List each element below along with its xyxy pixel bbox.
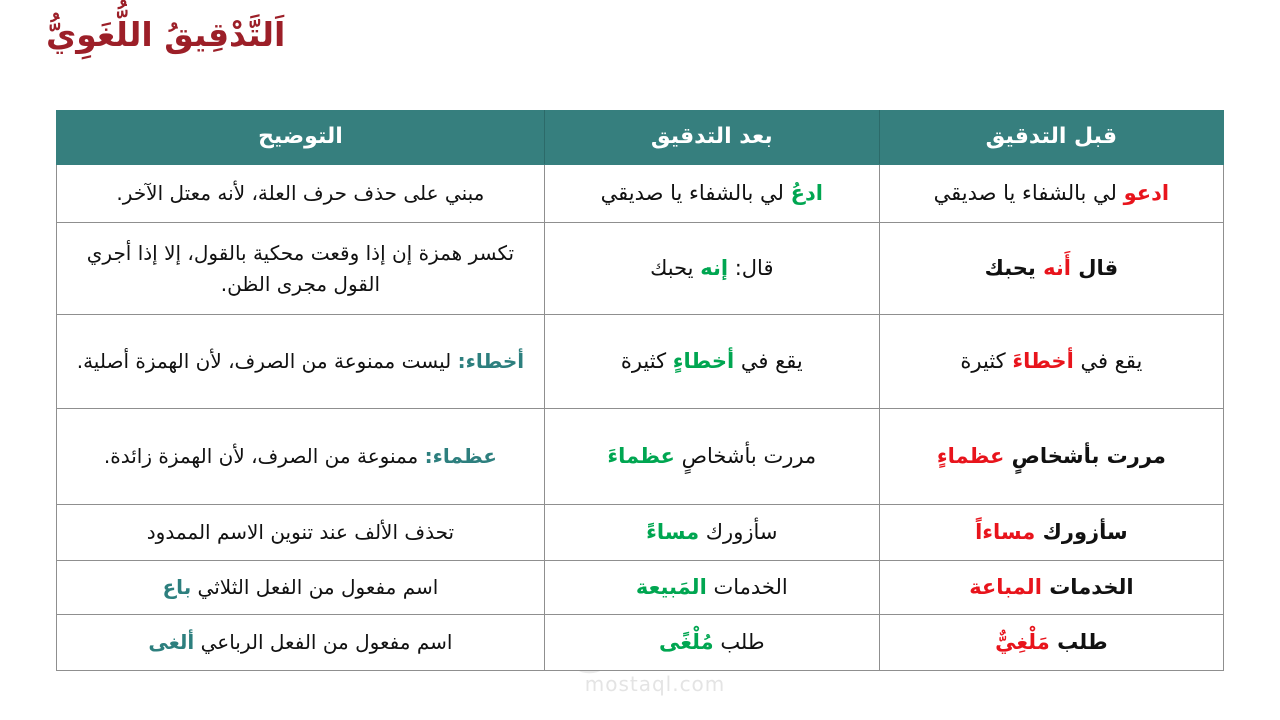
explanation-text: اسم مفعول من الفعل الرباعي (194, 630, 452, 654)
cell-explanation: عظماء: ممنوعة من الصرف، لأن الهمزة زائدة… (57, 409, 545, 505)
page-title-bar: اَلتَّدْقِيقُ اللُّغَوِيُّ (46, 14, 1234, 57)
cell-after: قال: إنه يحبك (544, 223, 879, 315)
after-rest: كثيرة (621, 349, 673, 373)
comparison-table: قبل التدقيق بعد التدقيق التوضيح ادعو لي … (56, 110, 1224, 671)
correct-token: مُلْغًى (659, 630, 714, 654)
after-rest: يحبك (650, 256, 700, 280)
column-header-explanation: التوضيح (57, 111, 545, 165)
cell-explanation: اسم مفعول من الفعل الرباعي ألغى (57, 615, 545, 671)
cell-after: الخدمات المَبيعة (544, 561, 879, 615)
explanation-term: عظماء: (425, 444, 497, 468)
cell-before: يقع في أخطاءَ كثيرة (879, 315, 1223, 409)
wrong-token: أَنه (1043, 256, 1071, 280)
explanation-term: باع (163, 575, 192, 599)
wrong-token: مساءاً (975, 520, 1035, 544)
explanation-term: ألغى (148, 630, 194, 654)
after-rest: لي بالشفاء يا صديقي (601, 181, 791, 205)
explanation-term: أخطاء: (458, 349, 524, 373)
after-pre: الخدمات (707, 575, 788, 599)
table-row: يقع في أخطاءَ كثيرة يقع في أخطاءٍ كثيرة … (57, 315, 1224, 409)
column-header-before: قبل التدقيق (879, 111, 1223, 165)
before-pre: قال (1071, 256, 1118, 280)
table-row: طلب مَلْغِيٌّ طلب مُلْغًى اسم مفعول من ا… (57, 615, 1224, 671)
wrong-token: أخطاءَ (1012, 349, 1073, 373)
wrong-token: عظماءٍ (937, 444, 1005, 468)
explanation-text: اسم مفعول من الفعل الثلاثي (191, 575, 438, 599)
column-header-after: بعد التدقيق (544, 111, 879, 165)
before-pre: طلب (1050, 630, 1108, 654)
cell-explanation: اسم مفعول من الفعل الثلاثي باع (57, 561, 545, 615)
correct-token: مساءً (646, 520, 699, 544)
wrong-token: المباعة (969, 575, 1042, 599)
before-pre: مررت بأشخاصٍ (1004, 444, 1166, 468)
after-pre: قال: (728, 256, 773, 280)
slide-page: اَلتَّدْقِيقُ اللُّغَوِيُّ مستقل mostaql… (0, 0, 1280, 720)
page-title: اَلتَّدْقِيقُ اللُّغَوِيُّ (46, 14, 285, 57)
before-rest: لي بالشفاء يا صديقي (934, 181, 1124, 205)
cell-before: سأزورك مساءاً (879, 505, 1223, 561)
cell-before: طلب مَلْغِيٌّ (879, 615, 1223, 671)
cell-explanation: مبني على حذف حرف العلة، لأنه معتل الآخر. (57, 165, 545, 223)
cell-after: مررت بأشخاصٍ عظماءَ (544, 409, 879, 505)
explanation-text: تحذف الألف عند تنوين الاسم الممدود (147, 520, 454, 544)
after-pre: يقع في (734, 349, 803, 373)
after-pre: سأزورك (699, 520, 777, 544)
table-row: الخدمات المباعة الخدمات المَبيعة اسم مفع… (57, 561, 1224, 615)
correct-token: إنه (700, 256, 728, 280)
correct-token: المَبيعة (636, 575, 707, 599)
before-rest: يحبك (985, 256, 1043, 280)
wrong-token: مَلْغِيٌّ (995, 630, 1050, 654)
before-pre: سأزورك (1035, 520, 1127, 544)
cell-before: الخدمات المباعة (879, 561, 1223, 615)
comparison-table-wrapper: قبل التدقيق بعد التدقيق التوضيح ادعو لي … (56, 110, 1224, 671)
after-pre: طلب (714, 630, 765, 654)
cell-before: ادعو لي بالشفاء يا صديقي (879, 165, 1223, 223)
table-header: قبل التدقيق بعد التدقيق التوضيح (57, 111, 1224, 165)
cell-explanation: أخطاء: ليست ممنوعة من الصرف، لأن الهمزة … (57, 315, 545, 409)
explanation-text: ليست ممنوعة من الصرف، لأن الهمزة أصلية. (77, 349, 458, 373)
explanation-text: تكسر همزة إن إذا وقعت محكية بالقول، إلا … (87, 241, 514, 296)
table-row: سأزورك مساءاً سأزورك مساءً تحذف الألف عن… (57, 505, 1224, 561)
before-pre: الخدمات (1042, 575, 1134, 599)
correct-token: عظماءَ (607, 444, 675, 468)
cell-explanation: تكسر همزة إن إذا وقعت محكية بالقول، إلا … (57, 223, 545, 315)
correct-token: ادعُ (791, 181, 823, 205)
cell-after: يقع في أخطاءٍ كثيرة (544, 315, 879, 409)
after-pre: مررت بأشخاصٍ (675, 444, 816, 468)
watermark-latin: mostaql.com (540, 673, 770, 695)
table-row: قال أَنه يحبك قال: إنه يحبك تكسر همزة إن… (57, 223, 1224, 315)
cell-before: قال أَنه يحبك (879, 223, 1223, 315)
table-body: ادعو لي بالشفاء يا صديقي ادعُ لي بالشفاء… (57, 165, 1224, 671)
wrong-token: ادعو (1124, 181, 1170, 205)
cell-after: طلب مُلْغًى (544, 615, 879, 671)
cell-explanation: تحذف الألف عند تنوين الاسم الممدود (57, 505, 545, 561)
before-rest: كثيرة (960, 349, 1012, 373)
explanation-text: مبني على حذف حرف العلة، لأنه معتل الآخر. (116, 181, 484, 205)
before-pre: يقع في (1074, 349, 1143, 373)
table-row: مررت بأشخاصٍ عظماءٍ مررت بأشخاصٍ عظماءَ … (57, 409, 1224, 505)
cell-after: ادعُ لي بالشفاء يا صديقي (544, 165, 879, 223)
correct-token: أخطاءٍ (673, 349, 734, 373)
table-row: ادعو لي بالشفاء يا صديقي ادعُ لي بالشفاء… (57, 165, 1224, 223)
cell-before: مررت بأشخاصٍ عظماءٍ (879, 409, 1223, 505)
cell-after: سأزورك مساءً (544, 505, 879, 561)
explanation-text: ممنوعة من الصرف، لأن الهمزة زائدة. (104, 444, 425, 468)
header-row: قبل التدقيق بعد التدقيق التوضيح (57, 111, 1224, 165)
